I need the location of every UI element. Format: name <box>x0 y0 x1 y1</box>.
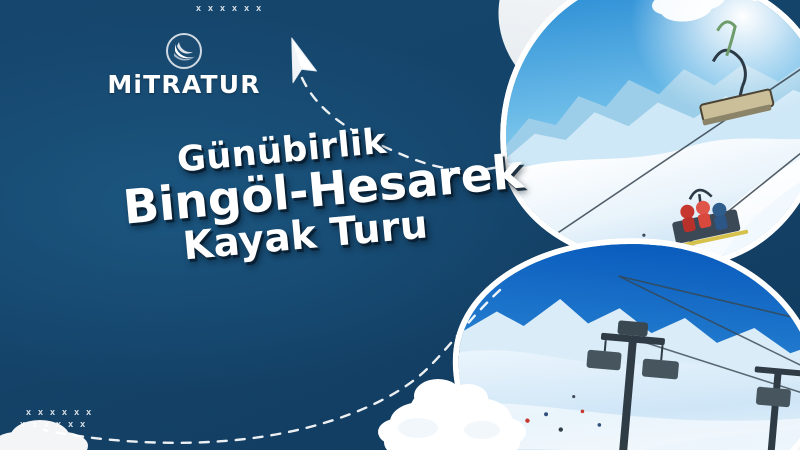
x-mark: x <box>244 4 249 13</box>
x-mark: x <box>256 4 261 13</box>
x-mark: x <box>56 420 61 429</box>
x-mark: x <box>208 4 213 13</box>
x-mark: x <box>196 4 201 13</box>
x-mark: x <box>20 420 25 429</box>
brand-logo[interactable]: MiTRATUR <box>104 33 264 97</box>
decor-x-row-bottom-1: x x x x x x <box>26 408 91 417</box>
x-mark: x <box>32 420 37 429</box>
x-mark: x <box>62 408 67 417</box>
x-mark: x <box>220 4 225 13</box>
x-mark: x <box>50 408 55 417</box>
mouse-cursor-arrow-icon <box>278 37 324 89</box>
x-mark: x <box>44 420 49 429</box>
promo-poster: x x x x x x x x x x x x x x x x x x MiTR… <box>0 0 800 450</box>
swoosh-circle-icon <box>166 33 202 69</box>
x-mark: x <box>80 420 85 429</box>
x-mark: x <box>68 420 73 429</box>
brand-wordmark: MiTRATUR <box>104 72 264 97</box>
x-mark: x <box>86 408 91 417</box>
x-mark: x <box>232 4 237 13</box>
decor-x-row-bottom-2: x x x x x x <box>20 420 85 429</box>
x-mark: x <box>26 408 31 417</box>
x-mark: x <box>38 408 43 417</box>
x-mark: x <box>74 408 79 417</box>
decor-x-row-top: x x x x x x <box>196 4 261 13</box>
brand-wordmark-text: MiTRATUR <box>107 70 260 99</box>
